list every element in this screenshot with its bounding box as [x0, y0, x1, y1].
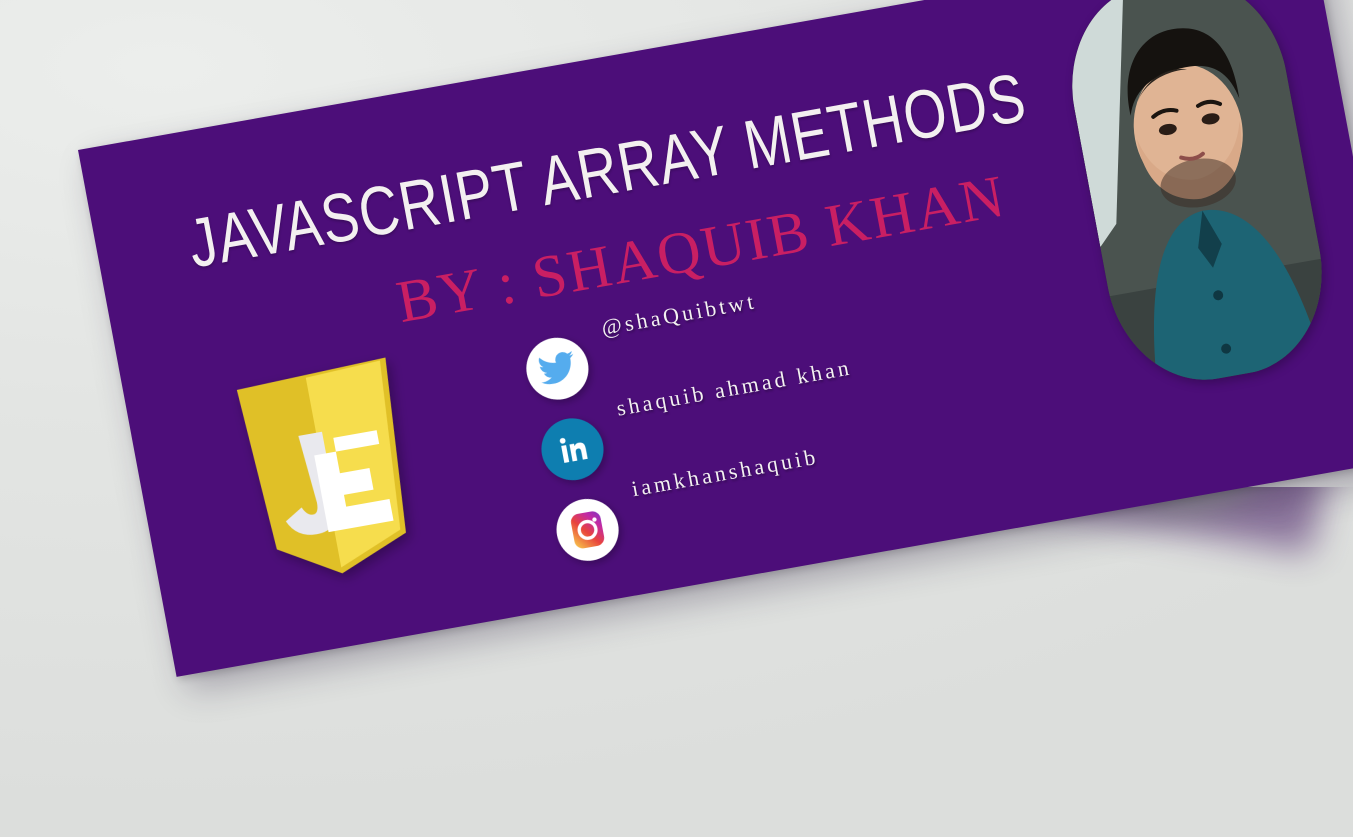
linkedin-icon[interactable] — [536, 413, 608, 485]
author-portrait — [1054, 0, 1339, 395]
javascript-logo-icon — [232, 357, 427, 586]
card-surface: JAVASCRIPT ARRAY METHODS BY : SHAQUIB KH… — [78, 0, 1353, 677]
instagram-icon[interactable] — [551, 494, 623, 566]
linkedin-handle: shaquib ahmad khan — [614, 355, 854, 422]
slide-stage: JAVASCRIPT ARRAY METHODS BY : SHAQUIB KH… — [0, 0, 1353, 837]
instagram-handle: iamkhanshaquib — [630, 444, 821, 503]
list-item[interactable]: iamkhanshaquib — [551, 505, 566, 586]
twitter-icon[interactable] — [521, 333, 593, 405]
twitter-handle: @shaQuibtwt — [599, 288, 758, 341]
presentation-card: JAVASCRIPT ARRAY METHODS BY : SHAQUIB KH… — [0, 0, 1353, 837]
social-links-list: @shaQuibtwt shaquib ahmad khan — [521, 344, 566, 586]
list-item[interactable]: @shaQuibtwt — [521, 344, 536, 425]
list-item[interactable]: shaquib ahmad khan — [536, 424, 551, 505]
